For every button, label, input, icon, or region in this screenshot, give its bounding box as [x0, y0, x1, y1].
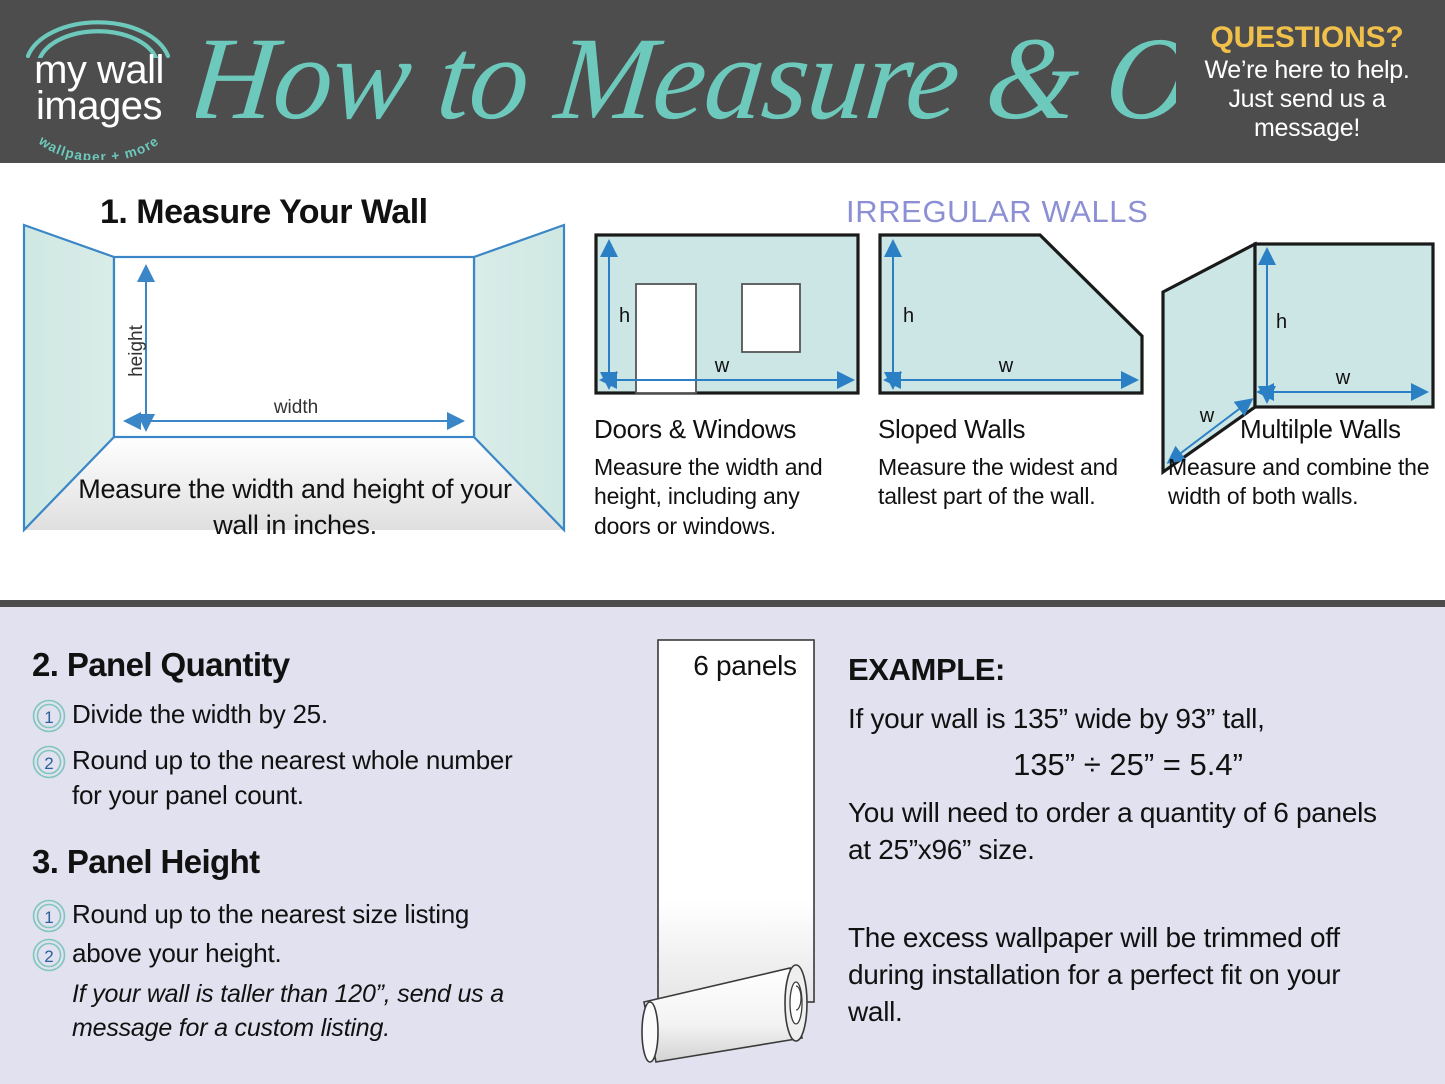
list-item-label: Divide the width by 25.: [72, 697, 328, 732]
brand-logo: my wall images wallpaper + more: [14, 14, 184, 154]
svg-text:wallpaper + more: wallpaper + more: [35, 132, 162, 160]
irregular-walls-title: IRREGULAR WALLS: [846, 194, 1148, 230]
logo-tagline: wallpaper + more: [14, 126, 184, 160]
svg-text:h: h: [619, 305, 630, 327]
svg-text:h: h: [1276, 311, 1287, 333]
caption-body-sloped-walls: Measure the widest and tallest part of t…: [878, 453, 1148, 512]
svg-text:1: 1: [44, 908, 53, 927]
svg-text:2: 2: [44, 947, 53, 966]
list-item: 2 above your height.: [32, 936, 562, 972]
svg-text:w: w: [714, 355, 730, 377]
svg-text:2: 2: [44, 754, 53, 773]
example-line-1: If your wall is 135” wide by 93” tall,: [848, 703, 1265, 735]
caption-head-doors-windows: Doors & Windows: [594, 414, 796, 445]
infographic-page: my wall images wallpaper + more How to M…: [0, 0, 1445, 1084]
step-badge-3-icon: 1: [32, 899, 66, 933]
sloped-wall-diagram: h w: [878, 232, 1146, 397]
help-body-text: We’re here to help. Just send us a messa…: [1191, 56, 1423, 143]
step-badge-4-icon: 2: [32, 938, 66, 972]
page-title-script: How to Measure & Order: [196, 6, 1176, 156]
step-badge-1-icon: 1: [32, 699, 66, 733]
example-equation: 135” ÷ 25” = 5.4”: [848, 747, 1408, 783]
svg-text:w: w: [1335, 367, 1351, 389]
example-heading: EXAMPLE:: [848, 652, 1005, 688]
roll-panel-count-label: 6 panels: [655, 650, 835, 682]
step-badge-2-icon: 2: [32, 745, 66, 779]
list-item-label: Round up to the nearest size listing: [72, 897, 469, 932]
header-bar: my wall images wallpaper + more How to M…: [0, 0, 1445, 163]
example-line-3: The excess wallpaper will be trimmed off…: [848, 920, 1393, 1031]
logo-line-2: images: [14, 86, 184, 126]
list-item-label: above your height.: [72, 936, 281, 971]
list-item: 1 Round up to the nearest size listing: [32, 897, 562, 933]
help-callout: QUESTIONS? We’re here to help. Just send…: [1191, 22, 1423, 143]
doors-windows-diagram: h w: [594, 232, 862, 397]
example-line-2: You will need to order a quantity of 6 p…: [848, 795, 1393, 869]
custom-listing-note: If your wall is taller than 120”, send u…: [72, 978, 547, 1045]
section2-title: 2. Panel Quantity: [32, 646, 290, 684]
list-item: 2 Round up to the nearest whole number f…: [32, 743, 532, 813]
section1-title: 1. Measure Your Wall: [100, 193, 428, 232]
wallpaper-roll-illustration: [638, 636, 850, 1068]
svg-text:w: w: [1199, 405, 1215, 427]
help-question-label: QUESTIONS?: [1191, 22, 1423, 54]
svg-text:How to Measure & Order: How to Measure & Order: [196, 13, 1176, 144]
caption-head-multiple-walls: Multilple Walls: [1240, 414, 1401, 445]
section-divider: [0, 600, 1445, 607]
svg-text:1: 1: [44, 708, 53, 727]
caption-body-multiple-walls: Measure and combine the width of both wa…: [1168, 453, 1436, 512]
svg-text:height: height: [126, 324, 147, 376]
section1-caption: Measure the width and height of your wal…: [60, 472, 530, 543]
caption-head-sloped-walls: Sloped Walls: [878, 414, 1025, 445]
section3-title: 3. Panel Height: [32, 843, 260, 881]
list-item-label: Round up to the nearest whole number for…: [72, 743, 532, 813]
svg-text:width: width: [273, 397, 318, 418]
list-item: 1 Divide the width by 25.: [32, 697, 562, 733]
svg-text:h: h: [903, 305, 914, 327]
caption-body-doors-windows: Measure the width and height, including …: [594, 453, 862, 541]
svg-text:w: w: [998, 355, 1014, 377]
